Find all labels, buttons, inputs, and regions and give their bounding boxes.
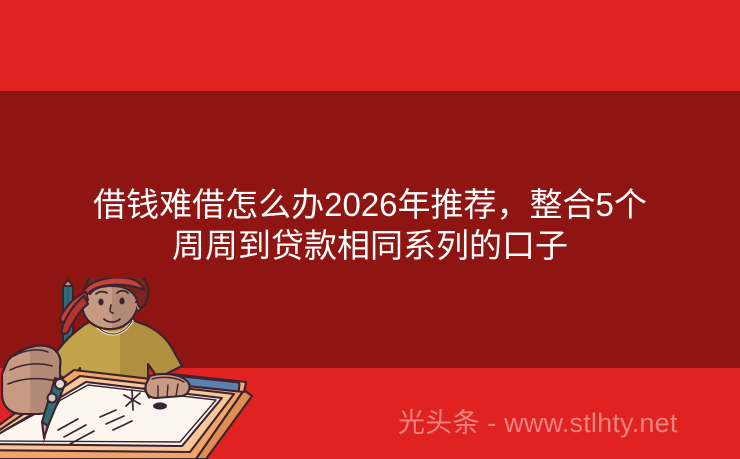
person-drafting-illustration [0, 278, 262, 459]
top-color-band [0, 0, 740, 91]
promo-banner: 借钱难借怎么办2026年推荐，整合5个 周周到贷款相同系列的口子 光头条 - w… [0, 0, 740, 459]
banner-headline: 借钱难借怎么办2026年推荐，整合5个 周周到贷款相同系列的口子 [0, 184, 740, 266]
site-watermark: 光头条 - www.stlhty.net [398, 408, 718, 439]
right-hand-on-board [145, 374, 189, 398]
